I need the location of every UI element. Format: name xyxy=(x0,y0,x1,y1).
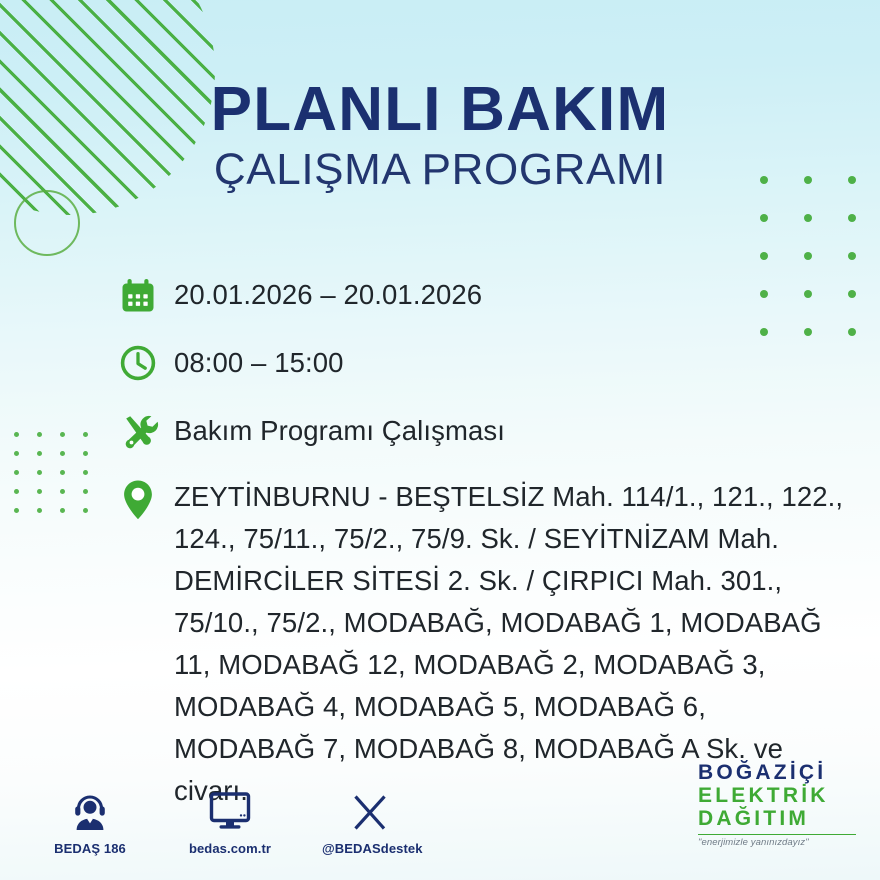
outage-info-block: 20.01.2026 – 20.01.2026 08:00 – 15:00 Ba… xyxy=(118,272,844,812)
info-row-work-type: Bakım Programı Çalışması xyxy=(118,408,844,454)
info-row-time: 08:00 – 15:00 xyxy=(118,340,844,386)
contact-website-label: bedas.com.tr xyxy=(182,841,278,856)
time-range-text: 08:00 – 15:00 xyxy=(174,340,844,385)
page-subtitle: ÇALIŞMA PROGRAMI xyxy=(0,145,880,196)
contact-x-label: @BEDASdestek xyxy=(322,841,418,856)
contact-channels: BEDAŞ 186 bedas.com.tr @BEDASdestek xyxy=(42,786,418,856)
brand-line-dagitim: DAĞITIM xyxy=(698,808,858,831)
page-footer: BEDAŞ 186 bedas.com.tr @BEDASdestek xyxy=(0,770,880,862)
clock-icon xyxy=(118,340,174,386)
bedas-logo: BOĞAZİÇİ ELEKTRİK DAĞITIM "enerjimizle y… xyxy=(698,762,858,848)
x-social-icon xyxy=(322,786,418,832)
contact-website[interactable]: bedas.com.tr xyxy=(182,786,278,856)
contact-phone[interactable]: BEDAŞ 186 xyxy=(42,786,138,856)
support-headset-icon xyxy=(42,786,138,832)
work-type-text: Bakım Programı Çalışması xyxy=(174,408,844,453)
contact-phone-label: BEDAŞ 186 xyxy=(42,841,138,856)
brand-divider xyxy=(698,834,856,836)
calendar-icon xyxy=(118,272,174,318)
tools-icon xyxy=(118,408,174,454)
circle-outline-decoration xyxy=(14,190,80,256)
location-pin-icon xyxy=(118,476,174,522)
page-header: PLANLI BAKIM ÇALIŞMA PROGRAMI xyxy=(0,78,880,196)
brand-tagline: "enerjimizle yanınızdayız" xyxy=(698,837,858,848)
page-title: PLANLI BAKIM xyxy=(0,78,880,141)
brand-line-elektrik: ELEKTRİK xyxy=(698,785,858,808)
dot-grid-left-decoration xyxy=(14,432,106,527)
info-row-date: 20.01.2026 – 20.01.2026 xyxy=(118,272,844,318)
brand-line-bogazici: BOĞAZİÇİ xyxy=(698,762,858,785)
contact-x-social[interactable]: @BEDASdestek xyxy=(322,786,418,856)
date-range-text: 20.01.2026 – 20.01.2026 xyxy=(174,272,844,318)
monitor-icon xyxy=(182,786,278,832)
